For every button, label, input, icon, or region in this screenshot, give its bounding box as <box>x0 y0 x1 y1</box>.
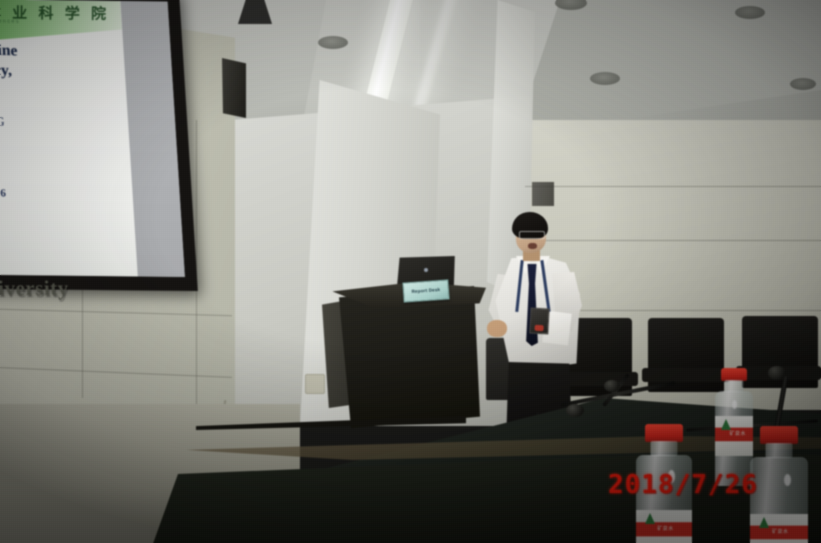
leaf-icon <box>645 513 655 524</box>
slide-authors: G, Kai WANG <box>0 112 130 134</box>
bottle-neck <box>766 443 793 458</box>
wall-outlet <box>305 374 325 394</box>
bottle-brand-text: 矿泉水 <box>657 525 674 532</box>
presenter-left-hand <box>487 320 507 337</box>
wall-panel-seam <box>525 186 821 187</box>
bottle-label: 矿泉水 <box>750 514 808 543</box>
microphone-head-icon <box>768 366 786 380</box>
bottle-label: 矿泉水 <box>636 510 692 543</box>
downlight-icon <box>735 6 765 19</box>
glasses-icon <box>519 231 545 239</box>
bottle-highlight <box>784 474 791 486</box>
presentation-slide: 林 业 科 学 院 Academy of Sciences r Korean P… <box>0 0 138 276</box>
slide-date-line: bin · 2018 Jul. 26 <box>0 185 133 204</box>
microphone-head-icon <box>604 380 620 392</box>
bottle-brand-text: 矿泉水 <box>772 528 789 535</box>
projection-screen: 林 业 科 学 院 Academy of Sciences r Korean P… <box>0 0 198 291</box>
downlight-icon <box>590 72 620 85</box>
bottle-highlight <box>732 400 737 409</box>
bottle-neck <box>651 441 678 456</box>
leaf-icon <box>759 517 769 528</box>
slide-body: r Korean Pine ): Dormancy, Sapling G, Ka… <box>0 39 133 204</box>
microphone-head-icon <box>566 404 584 417</box>
wall-panel-seam-vertical <box>82 290 83 398</box>
name-badge <box>529 308 549 335</box>
podium-sign-label: Report Desk <box>404 286 448 294</box>
projection-screen-surface: 林 业 科 学 院 Academy of Sciences r Korean P… <box>0 0 185 277</box>
downlight-icon <box>790 78 816 90</box>
leaf-icon <box>721 419 731 430</box>
camera-datestamp: 2018/7/26 <box>608 470 758 500</box>
slide-header-english: Academy of Sciences <box>0 18 20 25</box>
laptop-logo-icon <box>424 268 428 272</box>
wall-speaker-icon <box>222 58 246 118</box>
wall-signage-text: niversity <box>0 276 69 301</box>
bottle-cap <box>760 426 798 444</box>
bottle-cap <box>645 424 683 442</box>
downlight-icon <box>318 36 348 49</box>
presenter-mouth <box>528 243 537 249</box>
podium-sign: Report Desk <box>402 279 449 302</box>
speaker-podium <box>330 286 480 428</box>
photograph: 林 业 科 学 院 Academy of Sciences r Korean P… <box>0 0 821 543</box>
wall-speaker-icon <box>532 182 554 206</box>
